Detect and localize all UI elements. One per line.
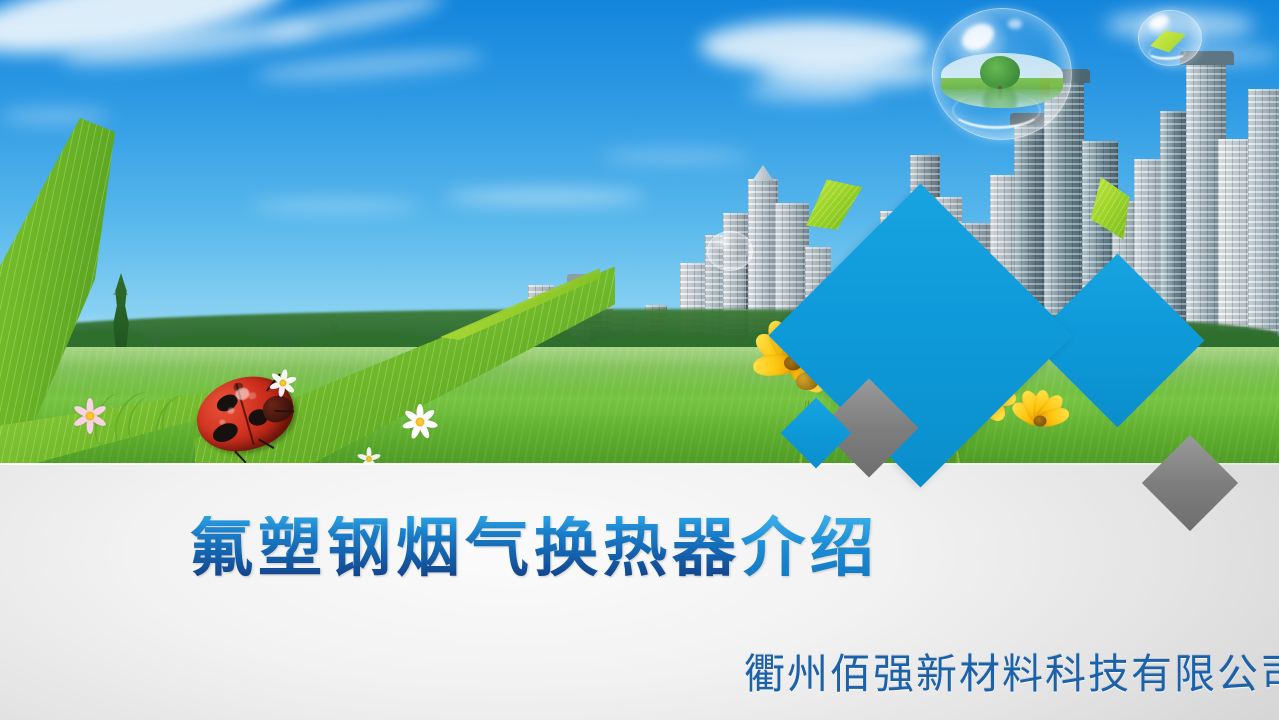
title-main-text: 氟塑钢烟气换热器 (189, 512, 741, 584)
soap-bubble-small-icon (707, 231, 753, 271)
page-title: 氟塑钢烟气换热器介绍 (189, 516, 879, 580)
cloud-icon (600, 150, 750, 163)
company-name: 衢州佰强新材料科技有限公司 (744, 640, 1279, 700)
title-accent-text: 介绍 (741, 512, 879, 584)
cloud-icon (250, 200, 420, 212)
yellow-cosmos-flower (1000, 388, 1080, 454)
cloud-icon (0, 108, 110, 124)
title-slide: 氟塑钢烟气换热器介绍 衢州佰强新材料科技有限公司 (0, 0, 1279, 720)
white-daisy-flower (268, 368, 298, 398)
cloud-icon (445, 190, 645, 204)
soap-bubble-with-tree-icon (932, 8, 1072, 140)
cloud-icon (745, 80, 875, 102)
white-daisy-flower (72, 398, 108, 434)
soap-bubble-with-leaf-icon (1138, 10, 1202, 66)
white-daisy-flower (400, 402, 440, 442)
white-daisy-flower (356, 446, 382, 463)
